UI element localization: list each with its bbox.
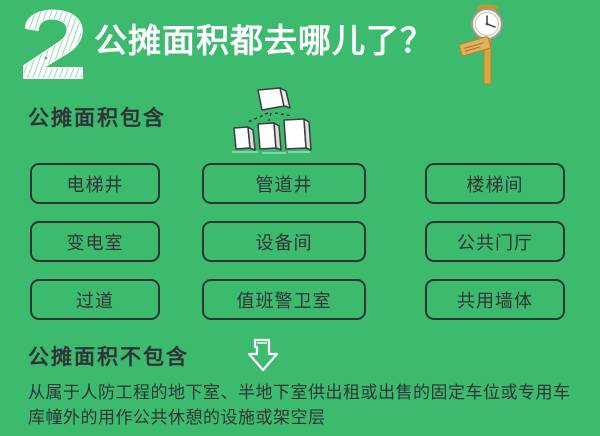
grid-cell[interactable]: 值班警卫室 xyxy=(202,279,366,320)
grid-cell[interactable]: 管道井 xyxy=(202,163,366,204)
grid-cell[interactable]: 楼梯间 xyxy=(425,163,565,204)
title-band: 公摊面积都去哪儿了？ xyxy=(0,0,600,86)
infographic-page: 公摊面积都去哪儿了？ 公摊面积包含 xyxy=(0,0,600,436)
include-items-grid: 电梯井 管道井 楼梯间 变电室 设备间 公共门厅 过道 值班警卫室 共用墙体 xyxy=(0,163,600,335)
arrow-down-icon xyxy=(243,337,283,373)
section-heading-exclude: 公摊面积不包含 xyxy=(28,341,189,371)
section-heading-include: 公摊面积包含 xyxy=(28,102,166,132)
building-split-boxes-icon xyxy=(228,86,314,160)
page-title: 公摊面积都去哪儿了？ xyxy=(94,18,424,64)
clock-signpost-icon xyxy=(452,0,522,86)
grid-cell[interactable]: 变电室 xyxy=(30,221,160,262)
exclude-description: 从属于人防工程的地下室、半地下室供出租或出售的固定车位或专用车库幢外的用作公共休… xyxy=(28,381,576,431)
grid-cell[interactable]: 设备间 xyxy=(202,221,366,262)
grid-cell[interactable]: 过道 xyxy=(30,279,160,320)
hand-drawn-number-two-icon xyxy=(16,6,94,80)
grid-cell[interactable]: 共用墙体 xyxy=(425,279,565,320)
grid-cell[interactable]: 公共门厅 xyxy=(425,221,565,262)
grid-cell[interactable]: 电梯井 xyxy=(30,163,160,204)
